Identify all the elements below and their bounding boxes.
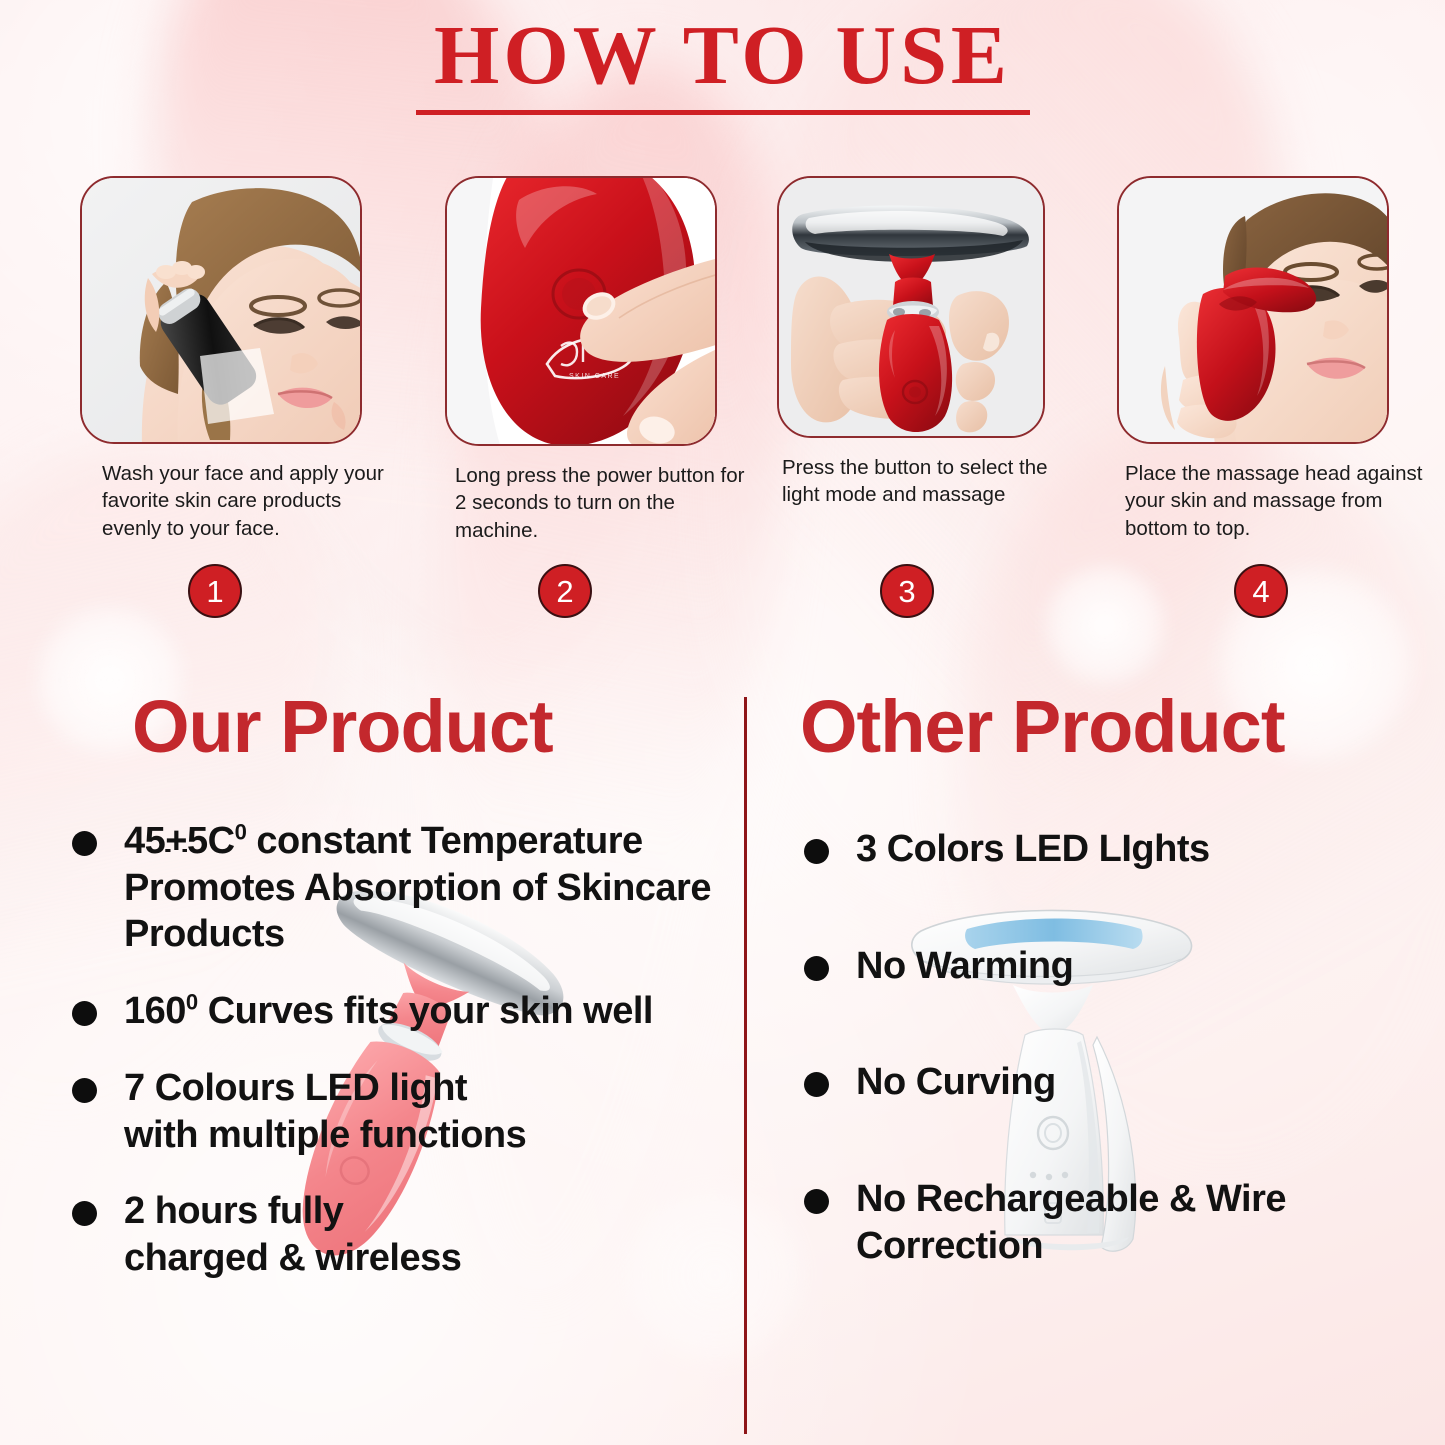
step-2-badge: 2 [538, 564, 592, 618]
bullet-dot-icon [72, 831, 97, 856]
step-2-caption: Long press the power button for 2 second… [455, 462, 747, 544]
feature-text: 45+5C0 constant Temperature Promotes Abs… [124, 820, 711, 955]
feature-item: 3 Colors LED LIghts [792, 826, 1420, 873]
feature-text: 1600 Curves fits your skin well [124, 990, 653, 1032]
step-1-badge: 1 [188, 564, 242, 618]
hand-holding-red-device-illustration [779, 178, 1045, 438]
bullet-dot-icon [72, 1001, 97, 1026]
svg-text:SKIN CARE: SKIN CARE [569, 373, 620, 380]
step-3-badge: 3 [880, 564, 934, 618]
feature-item: 7 Colours LED lightwith multiple functio… [60, 1065, 730, 1158]
bullet-dot-icon [804, 1072, 829, 1097]
step-3-photo [777, 176, 1045, 438]
bullet-dot-icon [804, 839, 829, 864]
step-3-caption: Press the button to select the light mod… [782, 454, 1082, 509]
step-item: Wash your face and apply your favorite s… [80, 176, 380, 542]
other-product-title: Other Product [800, 690, 1420, 764]
feature-item: 45+5C0 constant Temperature Promotes Abs… [60, 818, 730, 958]
feature-text: 7 Colours LED lightwith multiple functio… [124, 1067, 526, 1156]
woman-massaging-jawline-illustration [1119, 178, 1389, 444]
infographic-page: HOW TO USE [0, 0, 1445, 1445]
feature-text: No Rechargeable & Wire Correction [856, 1178, 1286, 1267]
feature-item: No Rechargeable & Wire Correction [792, 1176, 1420, 1269]
our-product-feature-list: 45+5C0 constant Temperature Promotes Abs… [60, 818, 730, 1282]
feature-item: 1600 Curves fits your skin well [60, 988, 730, 1035]
bullet-dot-icon [804, 956, 829, 981]
step-1-photo [80, 176, 362, 444]
step-1-caption: Wash your face and apply your favorite s… [102, 460, 394, 542]
step-4-badge: 4 [1234, 564, 1288, 618]
feature-item: No Curving [792, 1059, 1420, 1106]
step-item: Press the button to select the light mod… [777, 176, 1077, 509]
our-product-title: Our Product [132, 690, 730, 764]
how-to-use-steps: Wash your face and apply your favorite s… [0, 176, 1445, 606]
feature-text: No Curving [856, 1061, 1056, 1103]
step-4-caption: Place the massage head against your skin… [1125, 460, 1425, 542]
other-product-feature-list: 3 Colors LED LIghts No Warming No Curvin… [792, 826, 1420, 1270]
feature-text: 3 Colors LED LIghts [856, 828, 1210, 870]
step-item: Place the massage head against your skin… [1117, 176, 1417, 542]
finger-pressing-power-button-illustration: SKIN CARE [447, 178, 717, 446]
feature-text: 2 hours fullycharged & wireless [124, 1190, 461, 1279]
feature-text: No Warming [856, 945, 1073, 987]
feature-item: 2 hours fullycharged & wireless [60, 1188, 730, 1281]
step-4-photo [1117, 176, 1389, 444]
feature-item: No Warming [792, 943, 1420, 990]
step-2-photo: SKIN CARE [445, 176, 717, 446]
bullet-dot-icon [804, 1189, 829, 1214]
our-product-column: Our Product 45+5C0 constant Temperature … [60, 690, 730, 1312]
bullet-dot-icon [72, 1201, 97, 1226]
step-item: SKIN CARE Long press the power button fo… [445, 176, 745, 544]
other-product-column: Other Product 3 Colors LED LIghts No War… [780, 690, 1420, 1340]
title-underline [416, 110, 1030, 115]
page-header: HOW TO USE [0, 14, 1445, 115]
woman-applying-skincare-illustration [82, 178, 362, 444]
page-title: HOW TO USE [422, 14, 1023, 108]
bullet-dot-icon [72, 1078, 97, 1103]
product-comparison: Our Product 45+5C0 constant Temperature … [0, 690, 1445, 1445]
